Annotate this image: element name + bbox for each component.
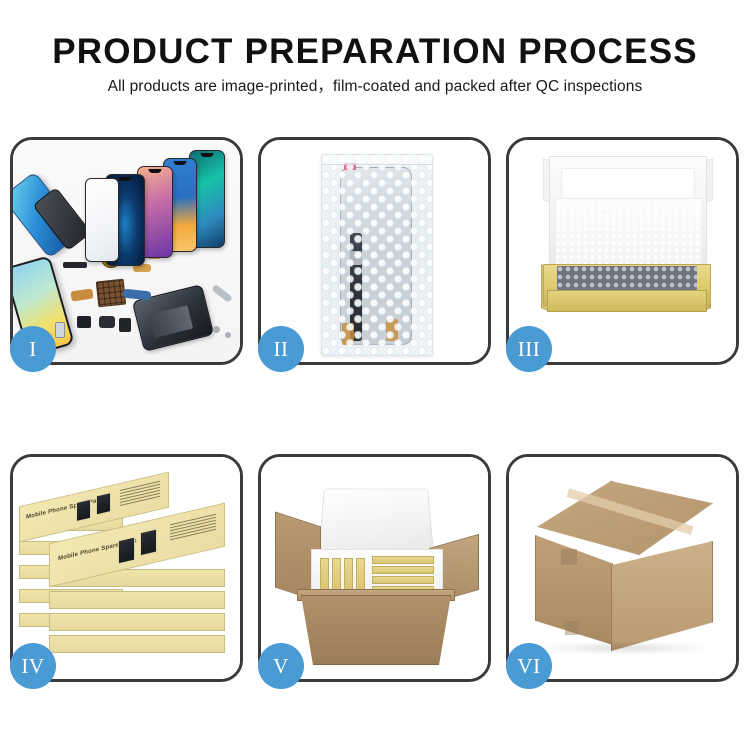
carton-top-face — [537, 481, 713, 555]
carton-label — [565, 621, 579, 635]
step-badge-4: IV — [10, 643, 56, 689]
packed-retail-box — [372, 566, 434, 574]
step-3-image — [509, 140, 736, 362]
screw-part — [213, 326, 220, 333]
carton-right-face — [611, 541, 713, 651]
page-subtitle: All products are image-printed，film-coat… — [0, 74, 750, 100]
page-title: PRODUCT PREPARATION PROCESS — [0, 30, 750, 74]
step-4-image: Mobile Phone Spare Parts Mobile Phone Sp… — [13, 457, 240, 679]
packed-retail-box — [356, 558, 365, 592]
step-2-image — [261, 140, 488, 362]
step-4-scene: Mobile Phone Spare Parts Mobile Phone Sp… — [13, 457, 240, 679]
screw-part — [225, 332, 231, 338]
packed-retail-box — [372, 556, 434, 564]
box-print-specs — [170, 514, 216, 543]
retail-box — [49, 591, 225, 609]
spare-part — [99, 316, 115, 328]
bag-seal — [322, 155, 432, 165]
flex-cable-part — [123, 289, 152, 301]
retail-box — [49, 613, 225, 631]
sim-tray-part — [55, 322, 65, 338]
box-print-specs — [120, 481, 160, 508]
step-badge-3: III — [506, 326, 552, 372]
step-2-scene — [261, 140, 488, 362]
step-badge-2: II — [258, 326, 304, 372]
battery-icon — [149, 305, 194, 338]
step-3-scene — [509, 140, 736, 362]
chip-grid-part — [96, 279, 127, 308]
foam-lid — [318, 489, 434, 558]
packed-retail-box — [320, 558, 329, 592]
step-1-image — [13, 140, 240, 362]
process-step-4: Mobile Phone Spare Parts Mobile Phone Sp… — [10, 454, 243, 682]
notch-icon — [174, 161, 187, 165]
box-print-screen — [140, 528, 157, 556]
process-step-2: II — [258, 137, 491, 365]
step-badge-1: I — [10, 326, 56, 372]
phone-glass-panel — [85, 178, 119, 262]
process-step-5: V — [258, 454, 491, 682]
spare-part — [77, 316, 91, 328]
shipping-carton-open — [301, 595, 451, 665]
process-steps-grid: I II — [10, 137, 740, 682]
spare-part — [70, 289, 93, 302]
step-badge-6: VI — [506, 643, 552, 689]
box-print-label: Mobile Phone Spare Parts — [26, 497, 105, 521]
process-step-3: III — [506, 137, 739, 365]
step-5-scene — [261, 457, 488, 679]
packed-retail-box — [372, 576, 434, 584]
process-step-1: I — [10, 137, 243, 365]
box-print-screen — [76, 499, 91, 522]
foam-padding — [555, 198, 703, 274]
step-6-scene — [509, 457, 736, 679]
page-header: PRODUCT PREPARATION PROCESS All products… — [0, 0, 750, 100]
spare-part — [119, 318, 131, 332]
notch-icon — [201, 153, 214, 157]
step-6-image — [509, 457, 736, 679]
box-print-screen — [96, 492, 111, 515]
tray-front-face — [547, 290, 707, 312]
retail-box — [49, 635, 225, 653]
tweezers-icon — [211, 284, 233, 303]
bubble-wrapped-units — [557, 266, 697, 290]
packed-retail-box — [332, 558, 341, 592]
notch-icon — [149, 169, 162, 173]
bubble-wrap-bag — [321, 154, 433, 356]
bubble-texture — [322, 155, 432, 355]
step-badge-5: V — [258, 643, 304, 689]
step-1-scene — [13, 140, 240, 362]
packed-retail-box — [344, 558, 353, 592]
carton-shadow — [533, 641, 715, 655]
box-print-screen — [118, 536, 135, 564]
spare-part — [63, 262, 87, 268]
notch-icon — [119, 177, 132, 181]
process-step-6: VI — [506, 454, 739, 682]
carton-label — [561, 549, 577, 565]
step-5-image — [261, 457, 488, 679]
